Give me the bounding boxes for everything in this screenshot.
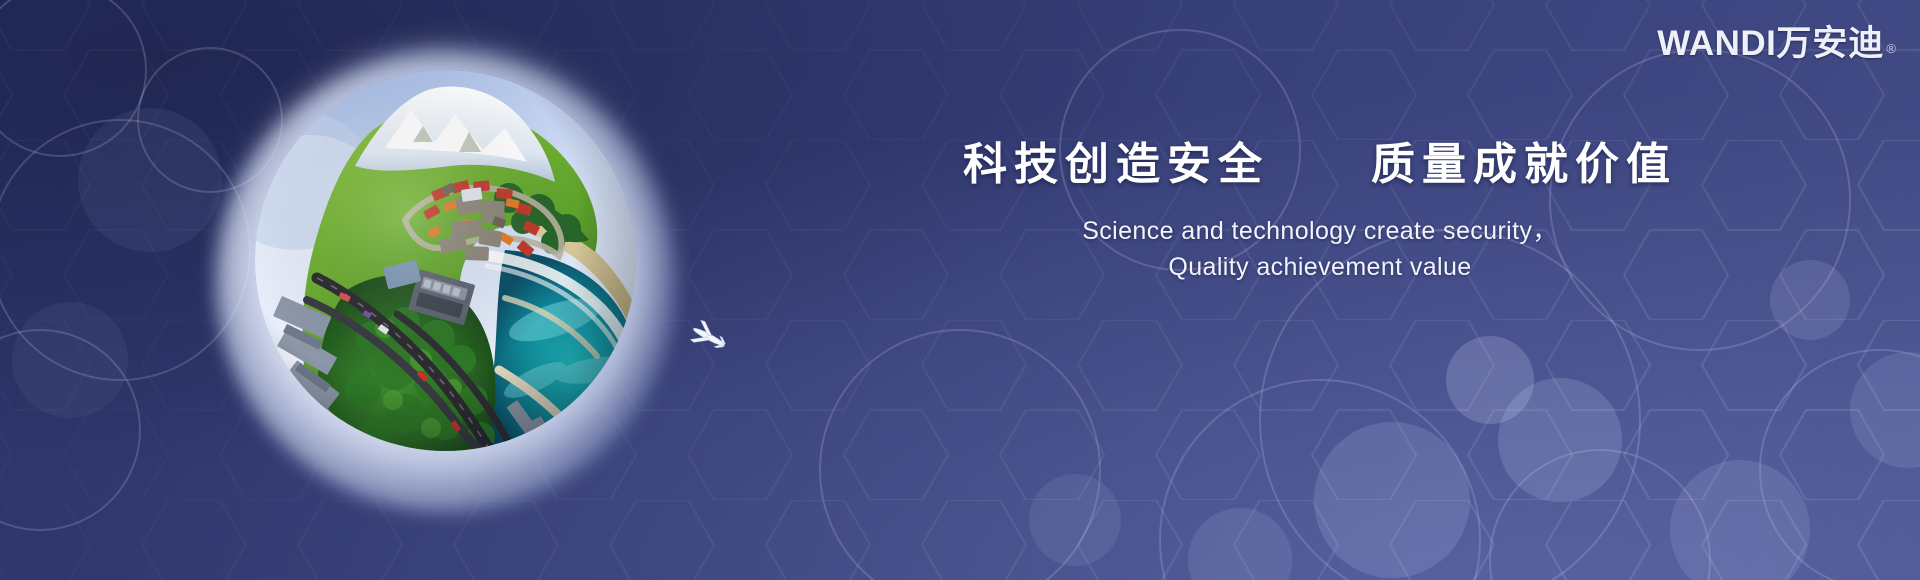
globe-illustration bbox=[196, 28, 756, 558]
hero-copy: 科技创造安全 质量成就价值 Science and technology cre… bbox=[950, 140, 1690, 285]
airplane-icon bbox=[682, 316, 736, 358]
headline-chinese: 科技创造安全 质量成就价值 bbox=[950, 140, 1690, 191]
logo-wordmark: WANDI bbox=[1657, 26, 1776, 61]
registered-trademark-icon: ® bbox=[1886, 42, 1896, 55]
subtitle-line-1: Science and technology create security， bbox=[950, 213, 1690, 249]
subtitle-english: Science and technology create security， … bbox=[950, 213, 1690, 286]
logo-chinese-name: 万安迪 bbox=[1776, 26, 1884, 61]
brand-logo[interactable]: WANDI 万安迪 ® bbox=[1657, 26, 1896, 61]
hero-banner: WANDI 万安迪 ® 科技创造安全 质量成就价值 Science and te… bbox=[0, 0, 1920, 580]
tiny-planet-image bbox=[255, 70, 636, 451]
subtitle-line-2: Quality achievement value bbox=[950, 249, 1690, 285]
